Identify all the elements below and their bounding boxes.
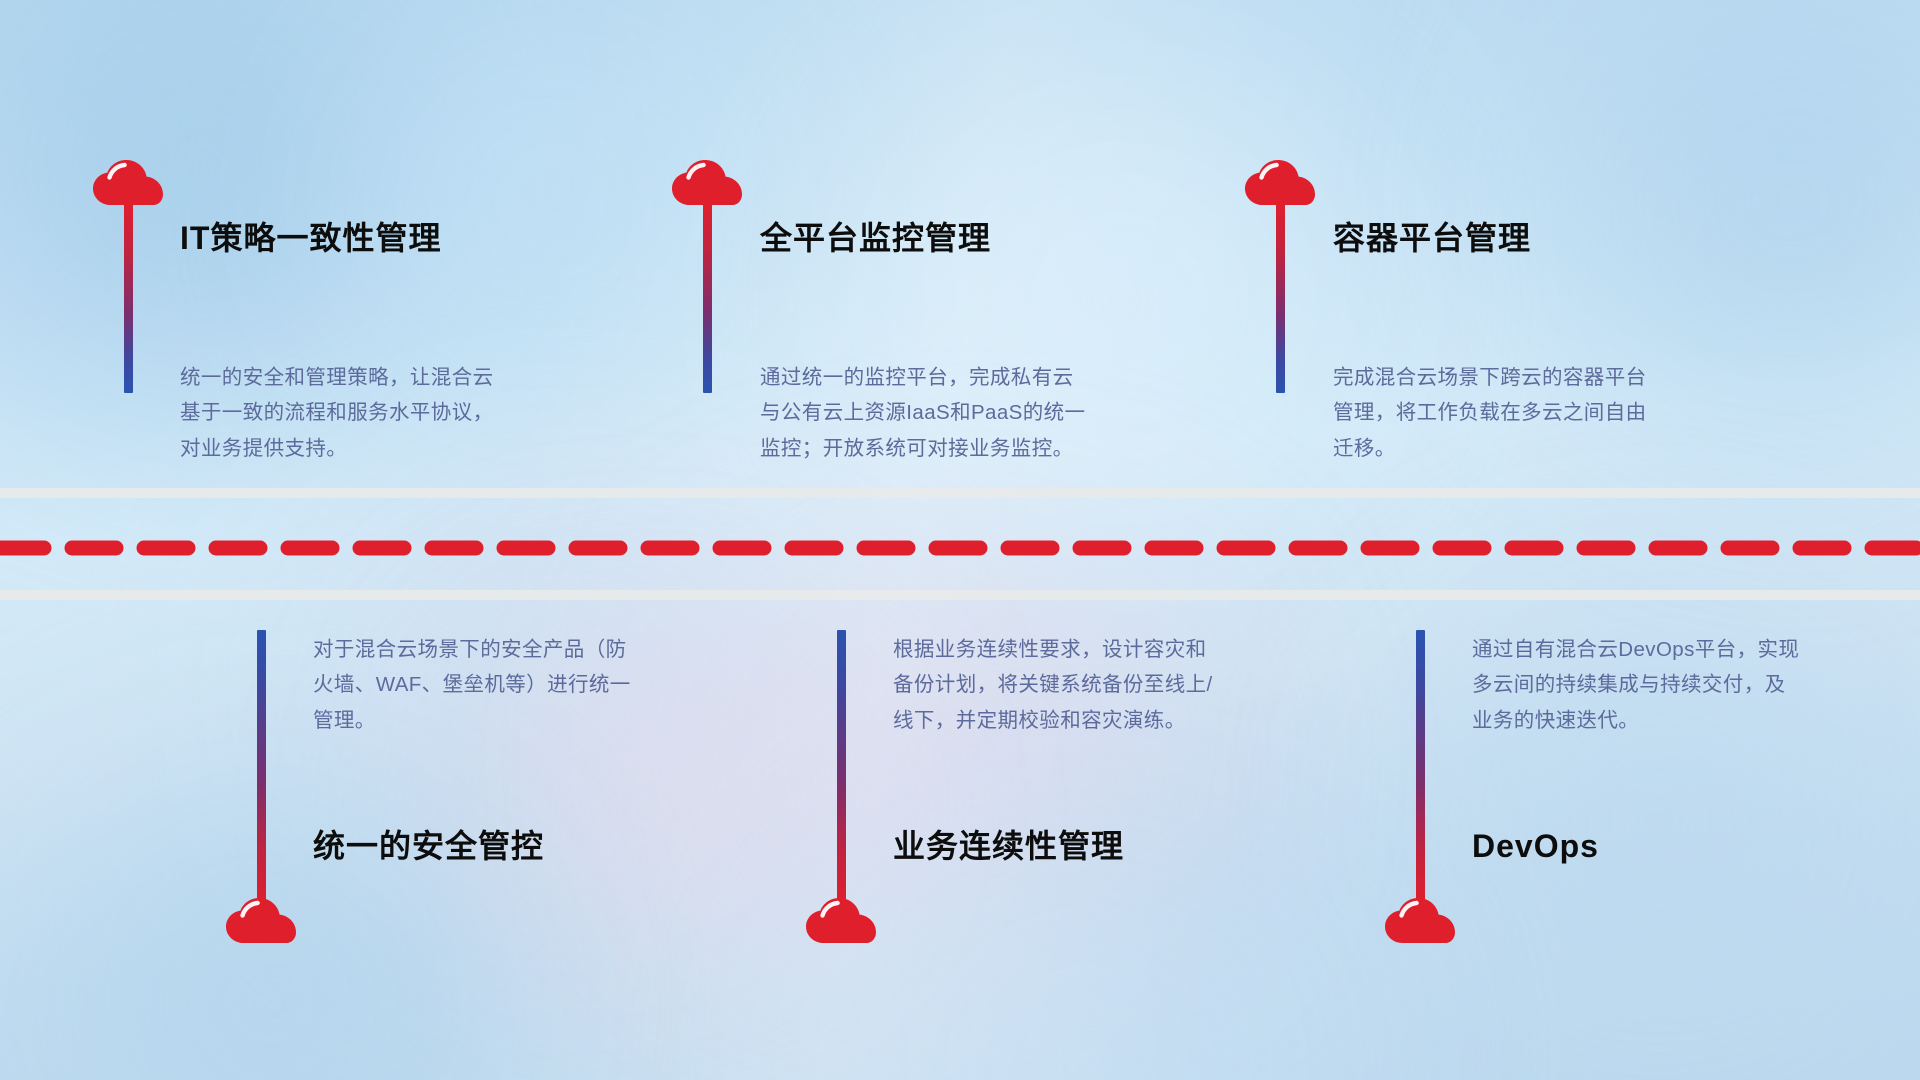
road-divider	[0, 488, 1920, 498]
road-divider-lower	[0, 590, 1920, 600]
cloud-pin-top-1	[93, 160, 163, 206]
panel-title: 容器平台管理	[1333, 222, 1531, 254]
cloud-pin-bottom-3	[1385, 898, 1455, 944]
cloud-pin-bottom-1	[226, 898, 296, 944]
cloud-pin-bottom-2	[806, 898, 876, 944]
panel-body: 根据业务连续性要求，设计容灾和备份计划，将关键系统备份至线上/线下，并定期校验和…	[893, 632, 1223, 738]
panel-body: 统一的安全和管理策略，让混合云基于一致的流程和服务水平协议，对业务提供支持。	[180, 360, 510, 466]
cloud-icon	[806, 898, 876, 944]
panel-title: 全平台监控管理	[760, 222, 991, 254]
road-line-upper	[0, 488, 1920, 498]
cloud-pin-top-2	[672, 160, 742, 206]
panel-body: 通过自有混合云DevOps平台，实现多云间的持续集成与持续交付，及业务的快速迭代…	[1472, 632, 1802, 738]
panel-body: 通过统一的监控平台，完成私有云与公有云上资源IaaS和PaaS的统一监控；开放系…	[760, 360, 1090, 466]
accent-bar-top-1	[124, 203, 133, 393]
cloud-icon	[1385, 898, 1455, 944]
accent-bar-top-3	[1276, 203, 1285, 393]
cloud-icon	[226, 898, 296, 944]
dashed-center-line	[0, 540, 1920, 556]
road-center-dashes	[0, 540, 1920, 561]
road-line-lower	[0, 590, 1920, 600]
panel-body: 对于混合云场景下的安全产品（防火墙、WAF、堡垒机等）进行统一管理。	[313, 632, 643, 738]
cloud-pin-top-3	[1245, 160, 1315, 206]
accent-bar-bottom-2	[837, 630, 846, 905]
cloud-icon	[93, 160, 163, 206]
accent-bar-bottom-1	[257, 630, 266, 905]
infographic-canvas: IT策略一致性管理 统一的安全和管理策略，让混合云基于一致的流程和服务水平协议，…	[0, 0, 1920, 1080]
panel-body: 完成混合云场景下跨云的容器平台管理，将工作负载在多云之间自由迁移。	[1333, 360, 1663, 466]
accent-bar-top-2	[703, 203, 712, 393]
cloud-icon	[672, 160, 742, 206]
panel-title: 统一的安全管控	[313, 830, 544, 862]
panel-title: 业务连续性管理	[893, 830, 1124, 862]
panel-title: DevOps	[1472, 830, 1599, 862]
panel-title: IT策略一致性管理	[180, 222, 441, 254]
cloud-icon	[1245, 160, 1315, 206]
accent-bar-bottom-3	[1416, 630, 1425, 905]
